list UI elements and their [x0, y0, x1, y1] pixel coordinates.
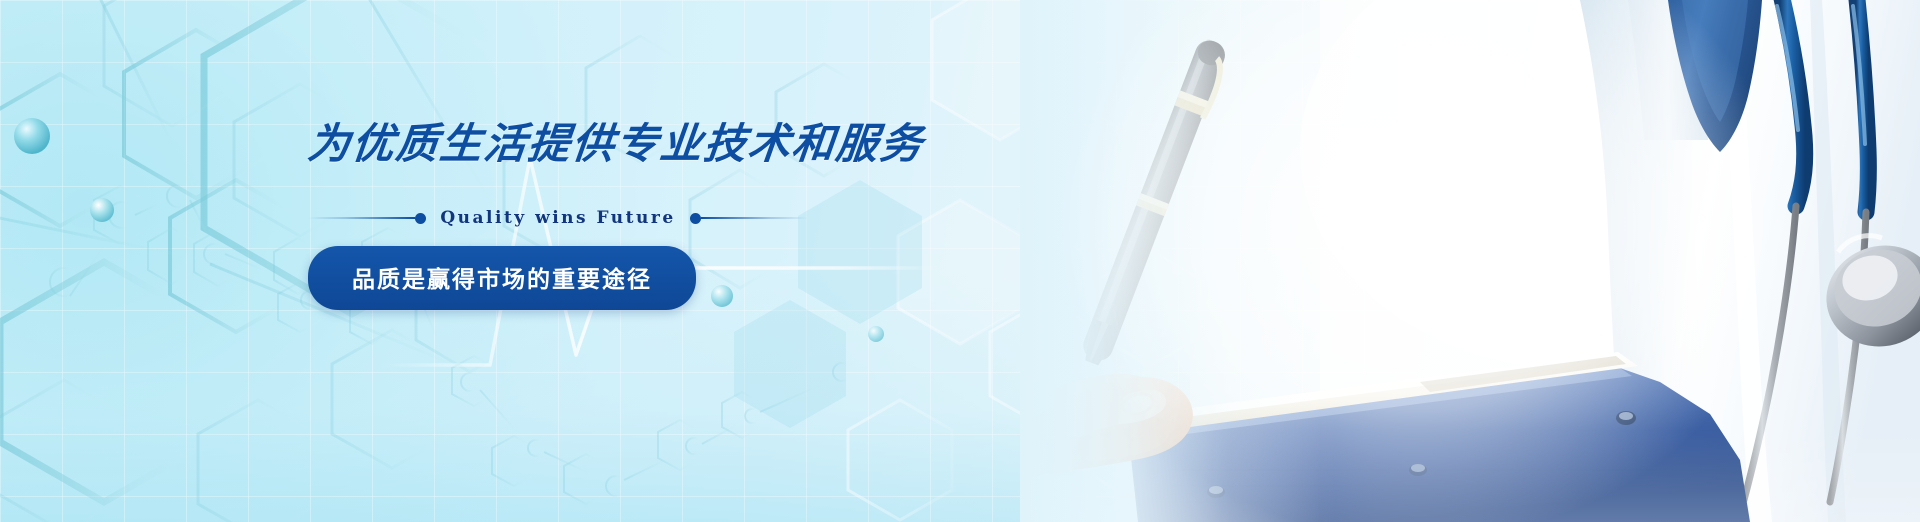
divider-rule-right	[701, 217, 808, 219]
divider-dot-left-icon	[415, 213, 426, 224]
medical-banner: 为优质生活提供专业技术和服务 Quality wins Future 品质是赢得…	[0, 0, 1920, 522]
divider-rule-left	[308, 217, 415, 219]
divider-dot-right-icon	[690, 213, 701, 224]
divider-english-text: Quality wins Future	[426, 208, 689, 228]
divider: Quality wins Future	[308, 208, 808, 228]
banner-headline: 为优质生活提供专业技术和服务	[305, 120, 1070, 168]
slogan-pill-button[interactable]: 品质是赢得市场的重要途径	[308, 246, 696, 310]
banner-content: 为优质生活提供专业技术和服务 Quality wins Future 品质是赢得…	[308, 120, 1068, 310]
doctor-photo	[1020, 0, 1920, 522]
